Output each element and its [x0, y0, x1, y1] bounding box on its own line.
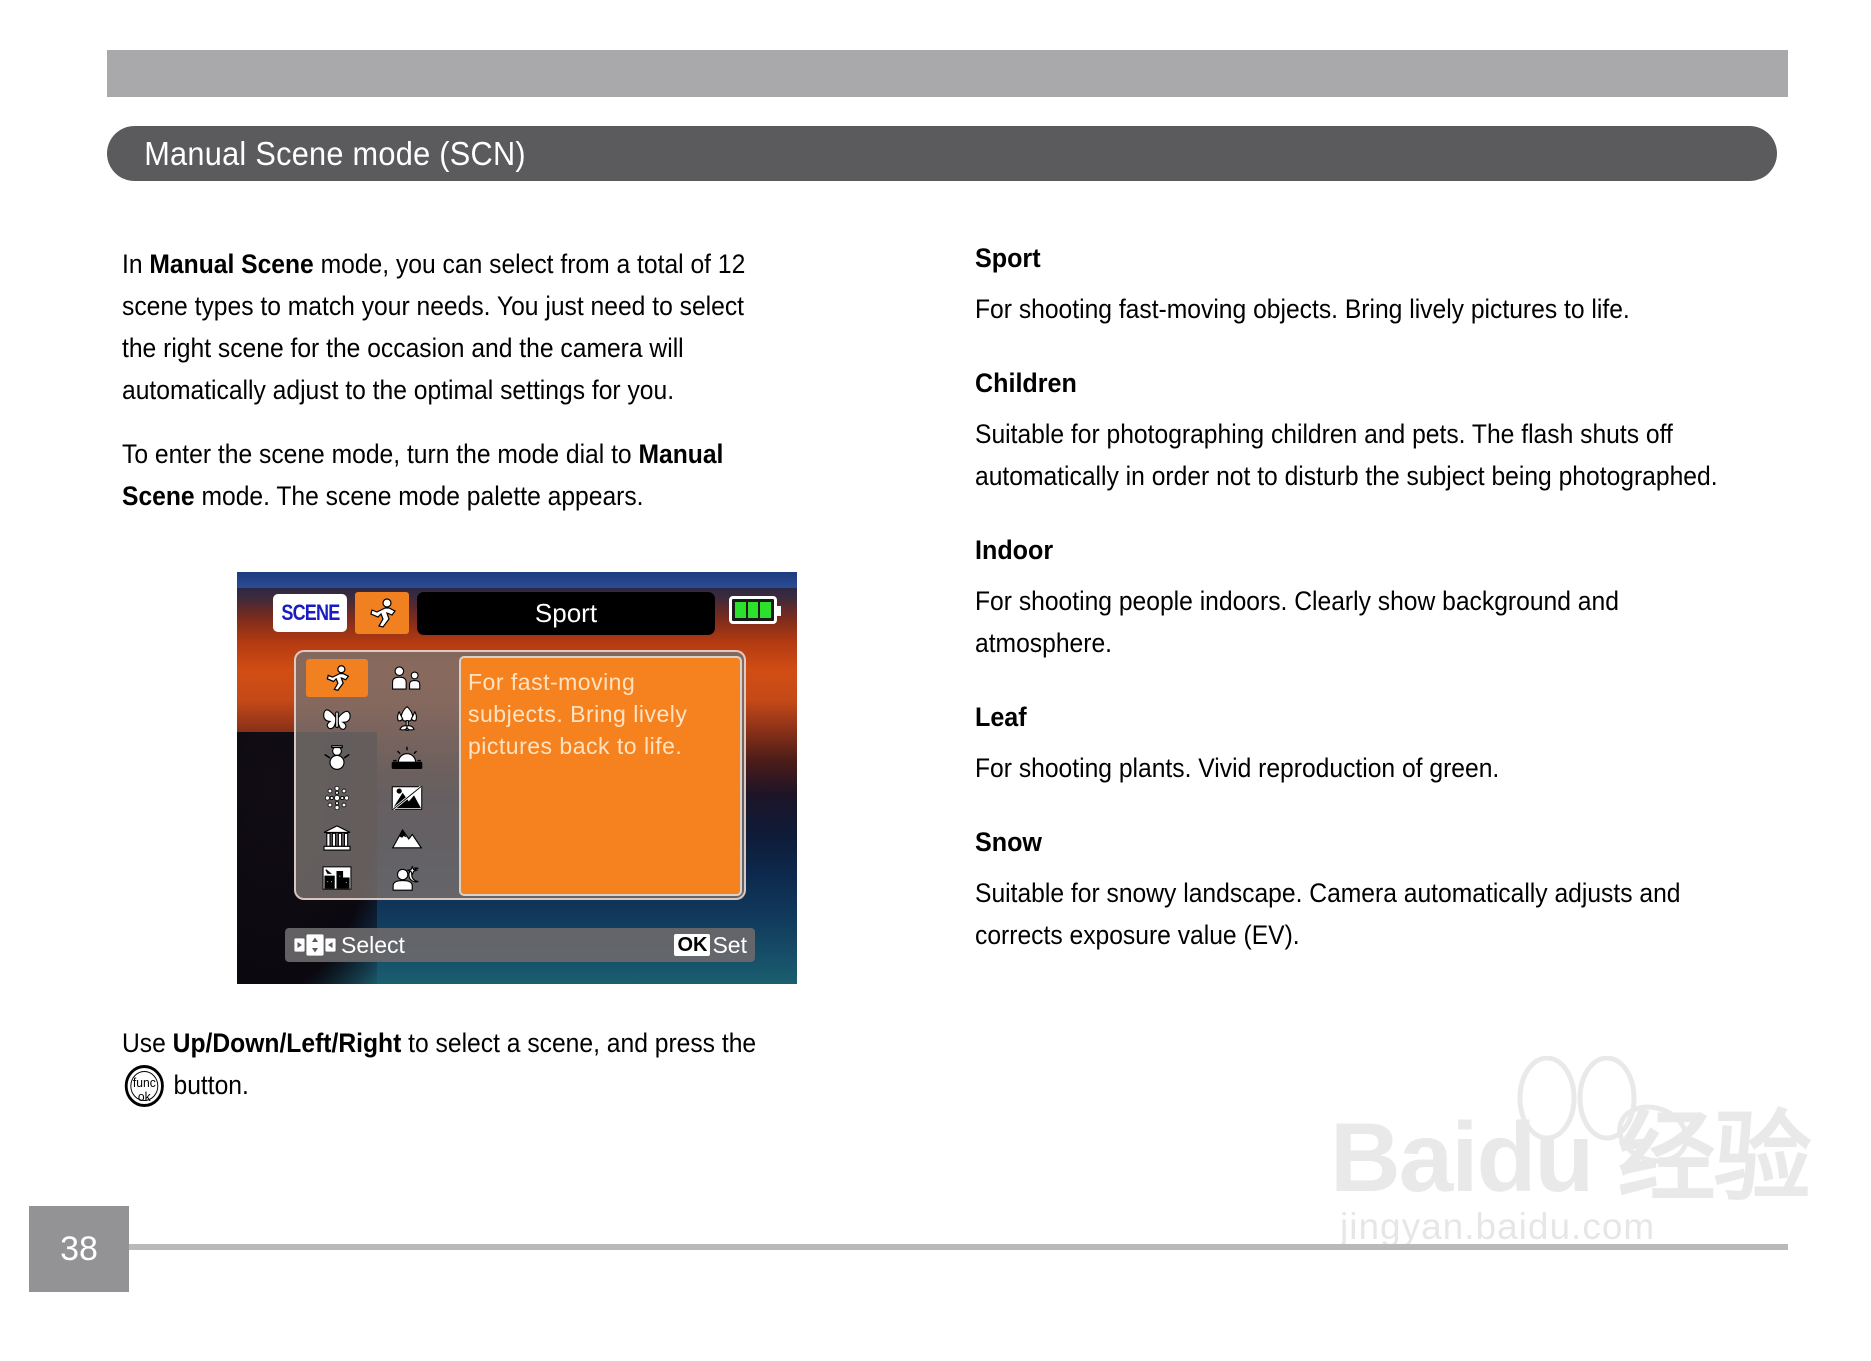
scene-icon-night-building[interactable] [306, 859, 368, 897]
section-body-leaf: For shooting plants. Vivid reproduction … [975, 747, 1728, 789]
scene-icon-night-portrait[interactable] [376, 859, 438, 897]
enter-mode-paragraph: To enter the scene mode, turn the mode d… [122, 433, 754, 517]
night-portrait-person-icon [391, 865, 423, 891]
night-portrait-building-icon [322, 865, 352, 891]
intro-paragraph: In Manual Scene mode, you can select fro… [122, 243, 754, 411]
scene-icon-grid [296, 652, 453, 898]
section-body-children: Suitable for photographing children and … [975, 413, 1728, 497]
watermark-brand: Baidu 经验 [1330, 1078, 1809, 1220]
runner-sport-icon [322, 664, 352, 692]
scene-icon-sunset[interactable] [376, 739, 438, 777]
intro-pre: In [122, 249, 149, 279]
header-bar [107, 50, 1788, 97]
mountain-landscape-icon [391, 826, 423, 850]
scene-icon-museum[interactable] [306, 819, 368, 857]
scene-icon-fireworks[interactable] [306, 779, 368, 817]
scene-icon-sport[interactable] [306, 659, 368, 697]
dpad-pre: Use [122, 1028, 173, 1058]
left-column: In Manual Scene mode, you can select fro… [122, 243, 802, 539]
ok-label: ok [128, 1090, 161, 1103]
section-heading-sport: Sport [975, 243, 1728, 274]
hint-select-label: Select [341, 932, 405, 959]
scene-description-box: For fast-moving subjects. Bring lively p… [459, 656, 742, 896]
scene-icon-landscape[interactable] [376, 819, 438, 857]
fireworks-icon [323, 784, 351, 812]
scene-name-label: Sport [535, 598, 597, 629]
page-number: 38 [60, 1230, 98, 1269]
section-title-banner: Manual Scene mode (SCN) [107, 126, 1777, 181]
manual-page: Manual Scene mode (SCN) In Manual Scene … [0, 0, 1871, 1361]
baidu-paw-icon [1495, 1056, 1705, 1186]
dpad-icon [293, 933, 339, 957]
battery-icon [729, 596, 777, 624]
watermark-url: jingyan.baidu.com [1340, 1206, 1655, 1248]
dpad-instruction-paragraph: Use Up/Down/Left/Right to select a scene… [122, 1022, 773, 1107]
scene-icon-leaf[interactable] [306, 699, 368, 737]
section-body-indoor: For shooting people indoors. Clearly sho… [975, 580, 1728, 664]
right-column: Sport For shooting fast-moving objects. … [975, 243, 1785, 956]
butterfly-insect-icon [321, 705, 353, 731]
section-heading-children: Children [975, 368, 1728, 399]
scene-description-text: For fast-moving subjects. Bring lively p… [468, 666, 733, 762]
enter-post: mode. The scene mode palette appears. [195, 481, 644, 511]
camera-lcd-screenshot: SCENE Sport [237, 572, 797, 984]
section-body-sport: For shooting fast-moving objects. Bring … [975, 288, 1728, 330]
func-ok-button-icon: funcok [125, 1065, 164, 1107]
section-heading-snow: Snow [975, 827, 1728, 858]
dpad-post: button. [167, 1070, 249, 1100]
night-landscape-icon [391, 785, 423, 811]
scene-mode-badge: SCENE [273, 594, 347, 632]
intro-bold: Manual Scene [149, 249, 313, 279]
museum-indoor-icon [323, 825, 351, 851]
scene-icon-flower[interactable] [376, 699, 438, 737]
scene-icon-night-landscape[interactable] [376, 779, 438, 817]
hint-set-label: Set [712, 932, 747, 959]
runner-sport-icon [365, 597, 399, 629]
page-title: Manual Scene mode (SCN) [107, 135, 526, 173]
lcd-top-strip [237, 572, 797, 588]
snowman-snow-icon [323, 744, 351, 772]
children-people-icon [390, 665, 424, 691]
section-heading-leaf: Leaf [975, 702, 1728, 733]
tulip-flower-icon [392, 704, 422, 732]
enter-pre: To enter the scene mode, turn the mode d… [122, 439, 638, 469]
dpad-bold: Up/Down/Left/Right [173, 1028, 402, 1058]
section-body-snow: Suitable for snowy landscape. Camera aut… [975, 872, 1728, 956]
sunset-icon [391, 745, 423, 771]
scene-icon-children[interactable] [376, 659, 438, 697]
lcd-hint-bar: Select OK Set [285, 928, 755, 962]
scene-icon-snow[interactable] [306, 739, 368, 777]
hint-select-group: Select [293, 932, 405, 959]
scene-mode-badge-label: SCENE [281, 600, 339, 626]
dpad-mid: to select a scene, and press the [401, 1028, 756, 1058]
hint-set-group: OK Set [674, 932, 747, 959]
page-number-box: 38 [29, 1206, 129, 1292]
scene-name-bar: Sport [417, 592, 715, 635]
scene-palette: For fast-moving subjects. Bring lively p… [294, 650, 746, 900]
current-scene-icon-box [355, 592, 409, 634]
ok-chip: OK [674, 934, 710, 956]
func-label: func [128, 1076, 161, 1089]
section-heading-indoor: Indoor [975, 535, 1728, 566]
footer-rule [107, 1244, 1788, 1250]
